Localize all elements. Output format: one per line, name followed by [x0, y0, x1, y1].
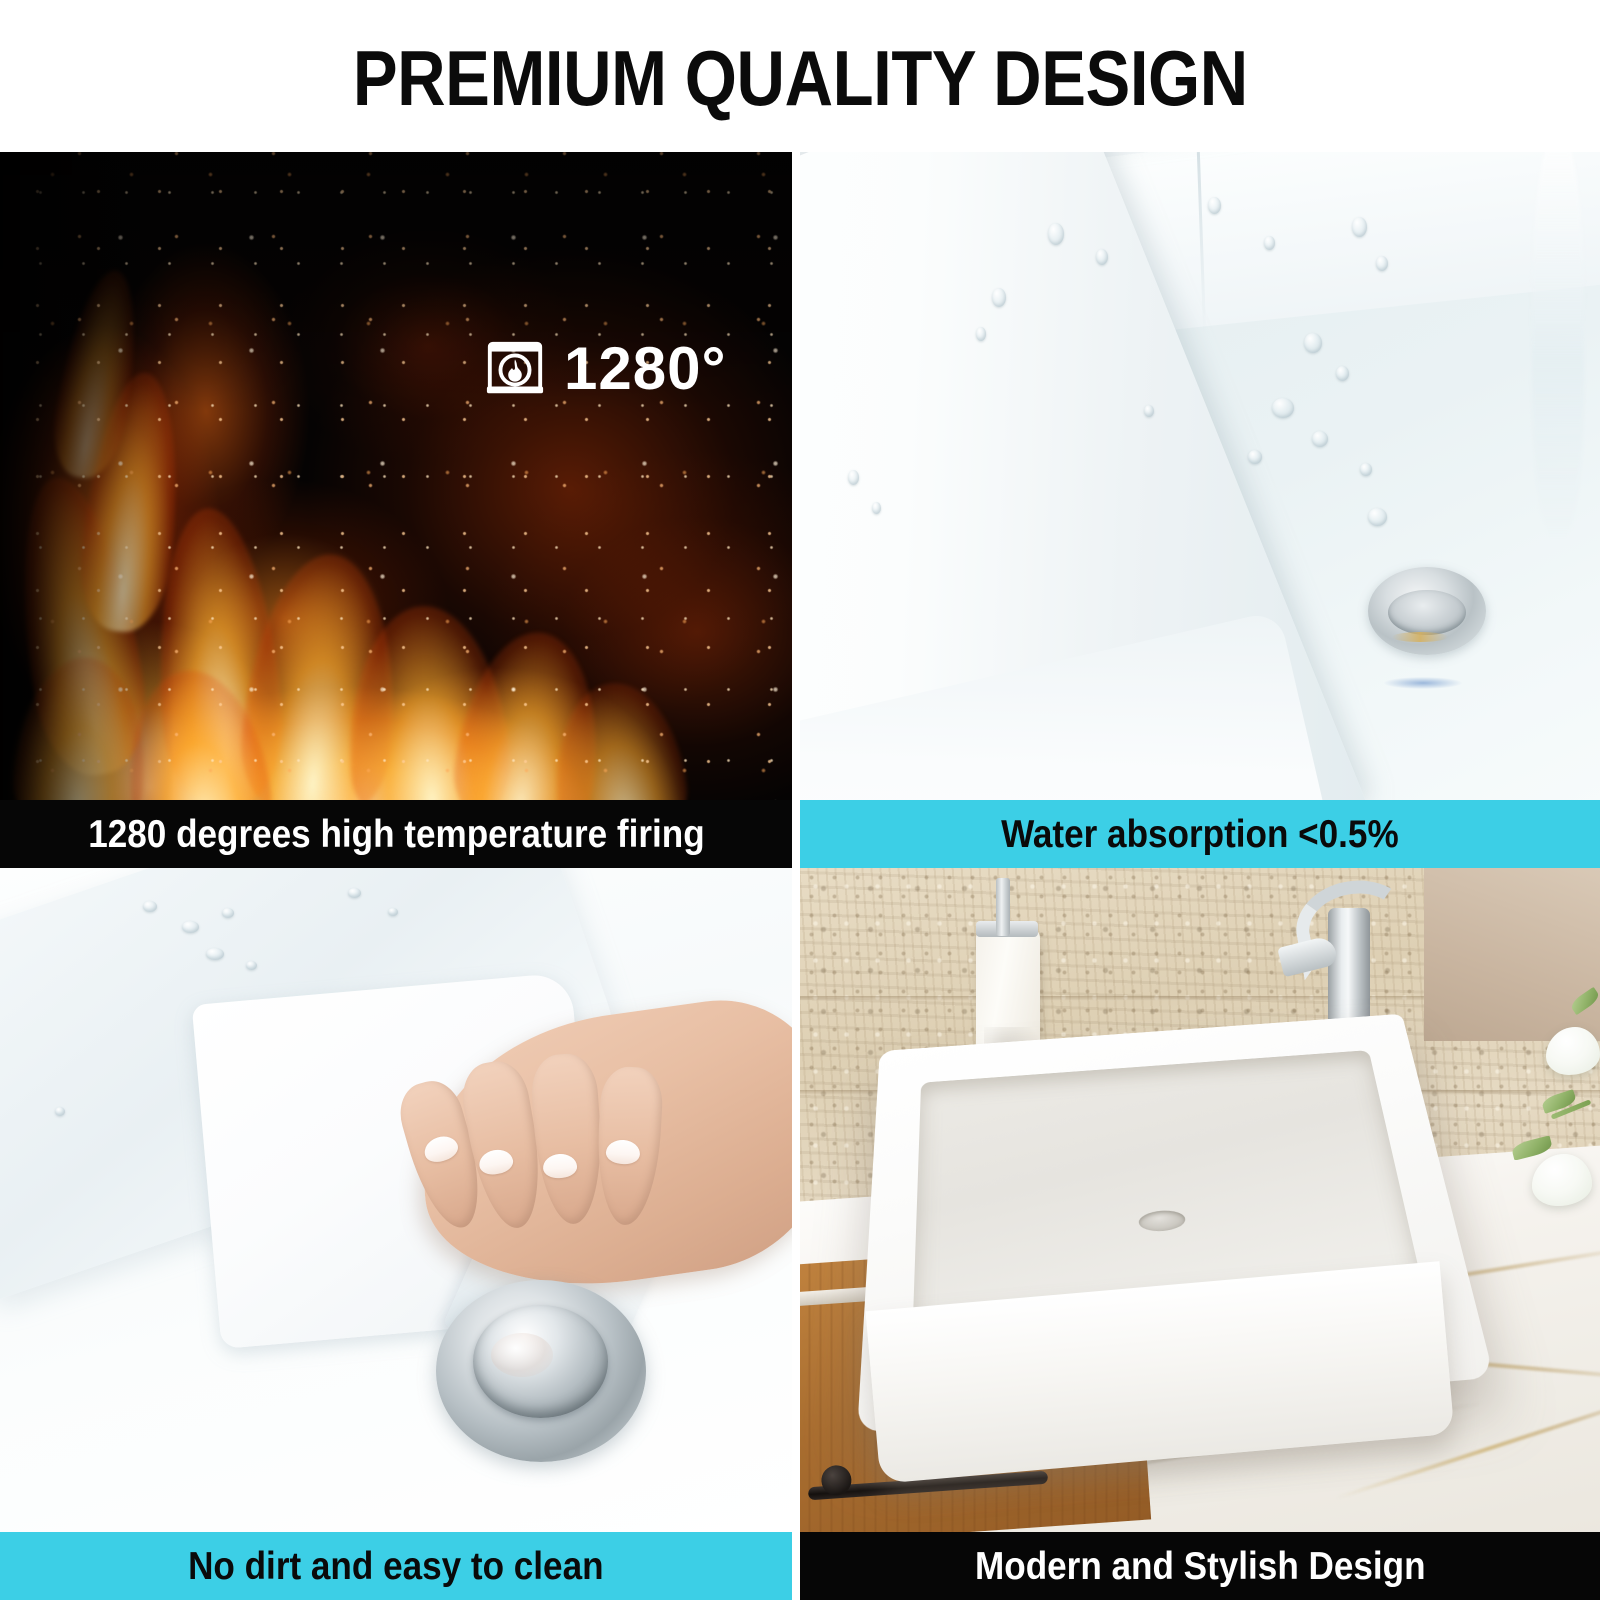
soap-dispenser-pump — [996, 878, 1010, 936]
hand-wiping-sink-with-cloth-photo — [0, 868, 792, 1532]
water-droplet — [182, 921, 199, 933]
water-droplet — [246, 961, 257, 970]
panel-high-temperature-firing: 1280° 1280 degrees high temperature firi… — [0, 152, 792, 868]
caption-text: Water absorption <0.5% — [1001, 815, 1399, 854]
water-droplet — [848, 470, 859, 485]
sink-drain — [1368, 567, 1486, 655]
caption-bar-easy-to-clean: No dirt and easy to clean — [0, 1532, 792, 1600]
caption-text: Modern and Stylish Design — [975, 1547, 1426, 1586]
water-droplet — [1352, 217, 1367, 237]
water-droplet — [388, 908, 398, 916]
water-droplet — [1048, 223, 1064, 245]
panel-modern-stylish-design: Modern and Stylish Design — [800, 868, 1600, 1600]
water-droplet — [1312, 431, 1328, 447]
drain-highlight — [491, 1333, 553, 1377]
water-droplet — [1144, 405, 1154, 417]
water-droplet — [1272, 398, 1294, 418]
page-title: PREMIUM QUALITY DESIGN — [353, 39, 1248, 117]
water-droplet — [872, 502, 881, 514]
fire-vignette — [0, 152, 792, 800]
water-droplet — [143, 901, 157, 912]
temperature-badge: 1280° — [484, 338, 726, 400]
water-droplet — [1360, 463, 1372, 476]
temperature-value: 1280° — [564, 339, 726, 399]
water-droplets-layer — [800, 152, 1600, 800]
water-droplet — [1208, 197, 1221, 214]
caption-text: 1280 degrees high temperature firing — [88, 815, 704, 854]
bathroom-vanity-scene — [800, 868, 1600, 1532]
infographic-page: PREMIUM QUALITY DESIGN — [0, 0, 1600, 1600]
water-droplet — [55, 1107, 65, 1116]
caption-bar-water-absorption: Water absorption <0.5% — [800, 800, 1600, 868]
water-droplet — [222, 908, 234, 918]
panel-water-absorption: Water absorption <0.5% — [800, 152, 1600, 868]
header-banner: PREMIUM QUALITY DESIGN — [0, 0, 1600, 152]
caption-bar-modern-stylish-design: Modern and Stylish Design — [800, 1532, 1600, 1600]
fire-flames-photo: 1280° — [0, 152, 792, 800]
water-droplet — [1264, 236, 1275, 250]
panel-easy-to-clean: No dirt and easy to clean — [0, 868, 792, 1600]
water-droplet — [1368, 508, 1387, 526]
water-droplet — [1304, 333, 1322, 353]
water-droplet — [206, 948, 224, 960]
drain-blue-reflection — [1384, 677, 1462, 689]
water-droplet — [1096, 249, 1108, 265]
water-droplet — [1248, 450, 1262, 464]
water-droplet — [992, 288, 1006, 307]
feature-grid: 1280° 1280 degrees high temperature firi… — [0, 152, 1600, 1600]
ceramic-sink-basin-with-water-photo — [800, 152, 1600, 800]
water-droplet — [1376, 256, 1388, 271]
white-flower — [1546, 1027, 1600, 1075]
vessel-sink-on-marble-vanity-photo — [800, 868, 1600, 1532]
wall-panel-right — [1424, 868, 1600, 1041]
kiln-flame-icon — [484, 338, 546, 400]
caption-text: No dirt and easy to clean — [188, 1547, 603, 1586]
water-droplet — [976, 327, 986, 341]
caption-bar-high-temperature-firing: 1280 degrees high temperature firing — [0, 800, 792, 868]
water-droplet — [348, 888, 361, 898]
water-droplet — [1336, 366, 1349, 381]
drain-gold-glint — [1392, 632, 1448, 642]
